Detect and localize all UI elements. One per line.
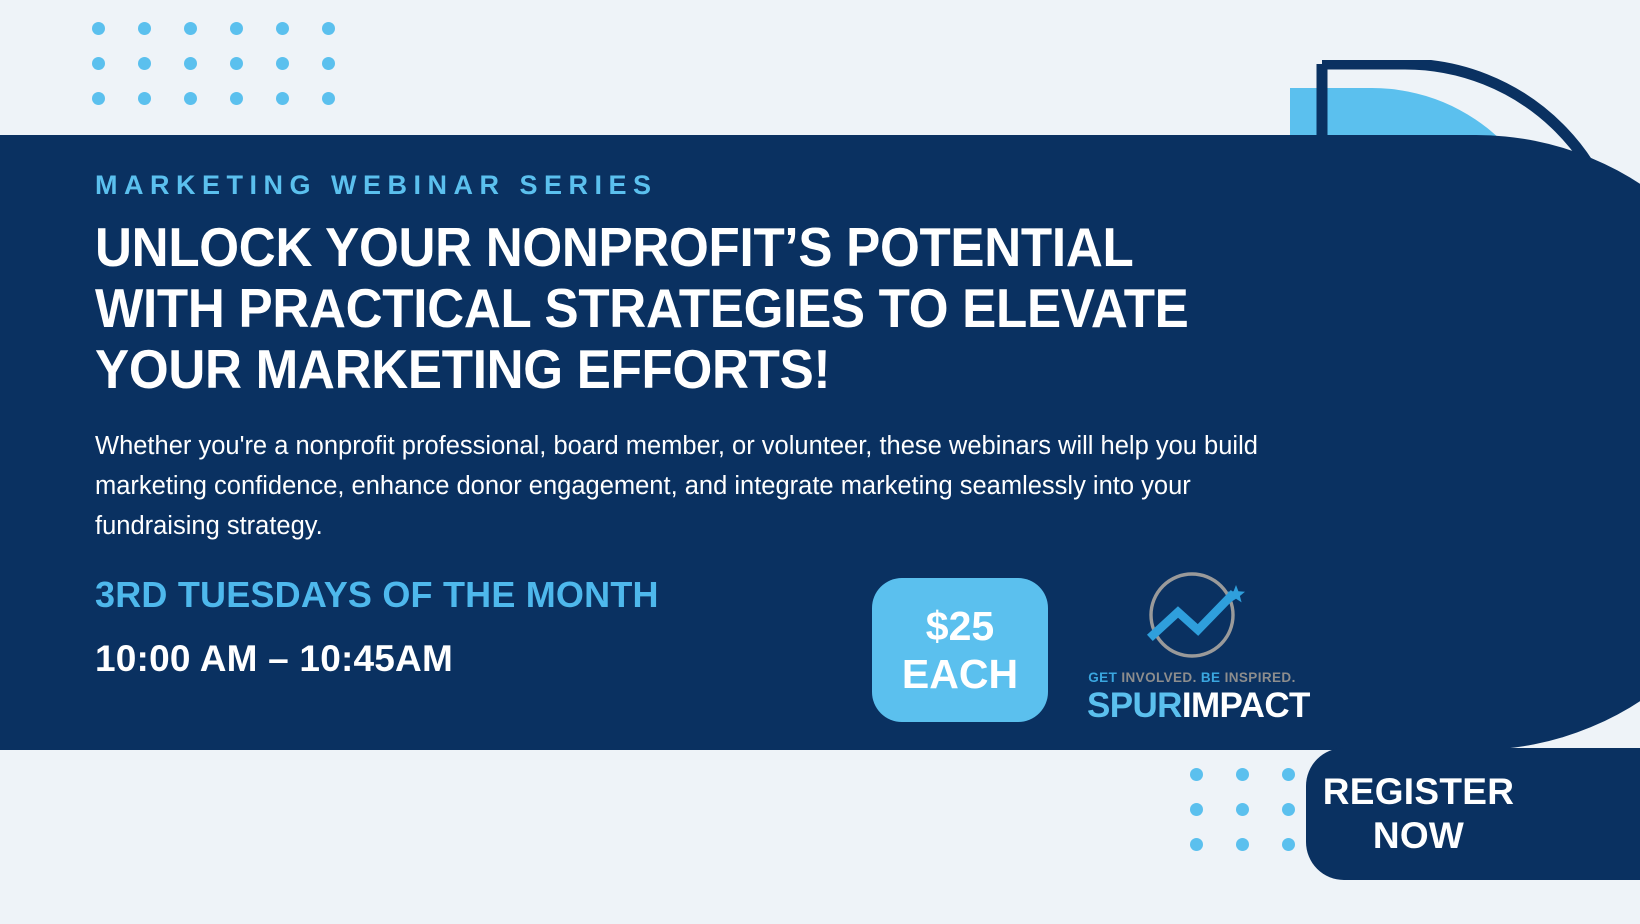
decorative-dot — [1190, 768, 1203, 781]
register-button-line-1: REGISTER — [1323, 770, 1515, 814]
logo-tagline: GET INVOLVED. BE INSPIRED. — [1087, 670, 1297, 685]
decorative-dot — [138, 57, 151, 70]
decorative-dot — [276, 92, 289, 105]
decorative-dot — [230, 92, 243, 105]
decorative-dot — [322, 22, 335, 35]
decorative-dot — [276, 57, 289, 70]
logo-wordmark-spur: SPUR — [1087, 686, 1182, 725]
decorative-dot — [92, 22, 105, 35]
page-title: UNLOCK YOUR NONPROFIT’S POTENTIAL WITH P… — [95, 217, 1230, 400]
decorative-dot — [1236, 838, 1249, 851]
decorative-dot — [1190, 803, 1203, 816]
decorative-dot — [1190, 838, 1203, 851]
decorative-dot — [1282, 838, 1295, 851]
decorative-dot — [92, 57, 105, 70]
register-button-line-2: NOW — [1373, 814, 1464, 858]
decorative-dot — [184, 22, 197, 35]
logo-wordmark-impact: IMPACT — [1182, 686, 1310, 725]
decorative-dot — [322, 57, 335, 70]
decorative-dot — [322, 92, 335, 105]
decorative-dot — [230, 57, 243, 70]
logo-tagline-highlight-1: GET — [1088, 670, 1117, 685]
spurimpact-logo: GET INVOLVED. BE INSPIRED. SPURIMPACT — [1087, 568, 1297, 726]
decorative-dot — [184, 57, 197, 70]
decorative-dot — [1282, 768, 1295, 781]
decorative-dot — [1236, 803, 1249, 816]
eyebrow-label: MARKETING WEBINAR SERIES — [95, 170, 1315, 201]
logo-tagline-plain-1: INVOLVED. — [1117, 670, 1201, 685]
decorative-dot-grid-top-left — [92, 22, 368, 127]
logo-tagline-plain-2: INSPIRED. — [1220, 670, 1295, 685]
decorative-dot — [138, 22, 151, 35]
decorative-dot — [92, 92, 105, 105]
logo-growth-chart-icon — [1126, 568, 1258, 664]
decorative-dot — [276, 22, 289, 35]
body-description: Whether you're a nonprofit professional,… — [95, 426, 1295, 546]
price-unit: EACH — [902, 650, 1018, 698]
decorative-dot — [184, 92, 197, 105]
decorative-dot — [1282, 803, 1295, 816]
logo-wordmark: SPURIMPACT — [1087, 686, 1297, 726]
decorative-dot — [230, 22, 243, 35]
decorative-dot — [1236, 768, 1249, 781]
logo-tagline-highlight-2: BE — [1201, 670, 1221, 685]
register-now-button[interactable]: REGISTER NOW — [1306, 748, 1640, 880]
price-badge: $25 EACH — [872, 578, 1048, 722]
decorative-dot — [138, 92, 151, 105]
price-amount: $25 — [926, 602, 994, 650]
